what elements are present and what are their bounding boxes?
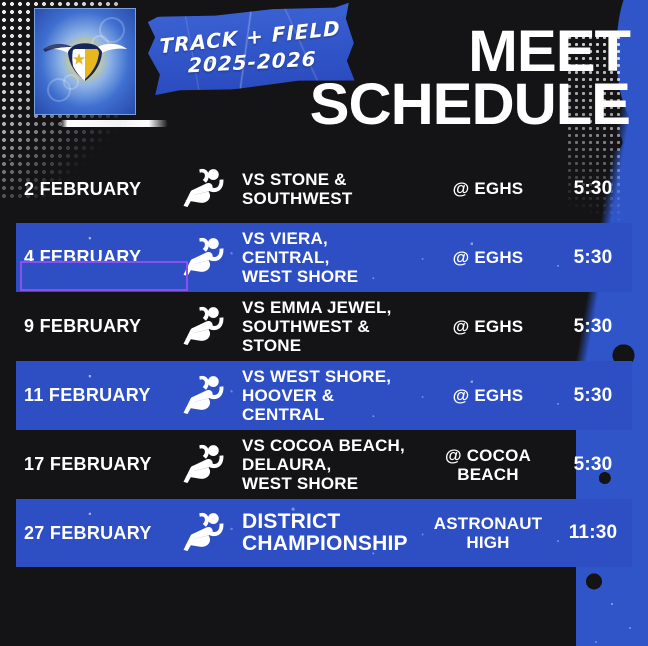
schedule-row-2[interactable]: 4 FEBRUARY VS VIERA, CENTRAL,WEST SHORE … (16, 223, 632, 292)
longhorn-icon (39, 33, 131, 89)
row-opponent-cell: VS VIERA, CENTRAL,WEST SHORE (242, 229, 422, 286)
row-date-cell[interactable]: 27 FEBRUARY (16, 523, 168, 544)
row-opponent-line: HOOVER & CENTRAL (242, 386, 416, 424)
row-date-text: 11 FEBRUARY (24, 385, 151, 405)
schedule-row-1[interactable]: 2 FEBRUARY VS STONE &SOUTHWEST @ EGHS 5:… (16, 155, 632, 223)
row-location-cell: @ EGHS (422, 179, 554, 198)
schedule-row-3[interactable]: 9 FEBRUARY VS EMMA JEWEL,SOUTHWEST & STO… (16, 292, 632, 361)
row-icon-cell (168, 437, 242, 493)
row-location-cell: @ EGHS (422, 248, 554, 267)
row-time-cell: 5:30 (554, 178, 632, 200)
runner-icon (177, 437, 233, 493)
schedule-row-5[interactable]: 17 FEBRUARY VS COCOA BEACH,DELAURA,WEST … (16, 430, 632, 499)
title-line-meet: MEET (197, 26, 630, 77)
row-opponent-line: CHAMPIONSHIP (242, 533, 416, 556)
runner-icon (177, 299, 233, 355)
row-time-cell: 5:30 (554, 247, 632, 269)
schedule-row-6[interactable]: 27 FEBRUARY DISTRICTCHAMPIONSHIP ASTRONA… (16, 499, 632, 567)
row-opponent-line: WEST SHORE (242, 267, 416, 286)
row-time-cell: 5:30 (554, 454, 632, 476)
row-location-cell: @ EGHS (422, 386, 554, 405)
row-opponent-line: VS STONE & (242, 170, 416, 189)
row-date-cell[interactable]: 9 FEBRUARY (16, 316, 168, 337)
row-icon-cell (168, 161, 242, 217)
row-location-cell: @ COCOA BEACH (422, 446, 554, 484)
row-date-cell[interactable]: 17 FEBRUARY (16, 454, 168, 475)
row-opponent-cell: VS COCOA BEACH,DELAURA,WEST SHORE (242, 436, 422, 493)
row-opponent-line: DELAURA, (242, 455, 416, 474)
row-icon-cell (168, 299, 242, 355)
title-line-schedule: SCHEDULE (197, 79, 630, 130)
row-opponent-line: WEST SHORE (242, 474, 416, 493)
row-opponent-line: SOUTHWEST (242, 189, 416, 208)
row-opponent-line: VS EMMA JEWEL, (242, 298, 416, 317)
row-time-cell: 11:30 (554, 522, 632, 544)
meet-schedule-poster: TRACK + FIELD 2025-2026 MEET SCHEDULE 2 … (0, 0, 648, 646)
row-icon-cell (168, 230, 242, 286)
row-opponent-cell: VS WEST SHORE,HOOVER & CENTRAL (242, 367, 422, 424)
poster-header: TRACK + FIELD 2025-2026 MEET SCHEDULE (0, 0, 648, 150)
row-location-cell: ASTRONAUT HIGH (422, 514, 554, 552)
runner-icon (177, 161, 233, 217)
row-date-text: 4 FEBRUARY (24, 247, 141, 267)
row-opponent-cell: DISTRICTCHAMPIONSHIP (242, 511, 422, 556)
schedule-list: 2 FEBRUARY VS STONE &SOUTHWEST @ EGHS 5:… (0, 155, 648, 567)
row-date-text: 9 FEBRUARY (24, 316, 141, 336)
brush-stroke-decoration (60, 120, 168, 127)
row-date-text: 2 FEBRUARY (24, 179, 141, 199)
longhorn-bull-logo (34, 8, 136, 115)
row-opponent-line: VS VIERA, CENTRAL, (242, 229, 416, 267)
row-location-cell: @ EGHS (422, 317, 554, 336)
schedule-row-4[interactable]: 11 FEBRUARY VS WEST SHORE,HOOVER & CENTR… (16, 361, 632, 430)
row-date-text: 17 FEBRUARY (24, 454, 152, 474)
row-date-text: 27 FEBRUARY (24, 523, 152, 543)
runner-icon (177, 230, 233, 286)
row-time-cell: 5:30 (554, 316, 632, 338)
runner-icon (177, 505, 233, 561)
row-date-cell[interactable]: 4 FEBRUARY (16, 247, 168, 268)
row-time-cell: 5:30 (554, 385, 632, 407)
poster-title: MEET SCHEDULE (210, 26, 630, 130)
row-date-cell[interactable]: 11 FEBRUARY (16, 385, 168, 406)
row-date-cell[interactable]: 2 FEBRUARY (16, 179, 168, 200)
row-opponent-line: VS COCOA BEACH, (242, 436, 416, 455)
row-opponent-cell: VS STONE &SOUTHWEST (242, 170, 422, 208)
runner-icon (177, 368, 233, 424)
row-icon-cell (168, 368, 242, 424)
row-opponent-cell: VS EMMA JEWEL,SOUTHWEST & STONE (242, 298, 422, 355)
row-opponent-line: SOUTHWEST & STONE (242, 317, 416, 355)
row-icon-cell (168, 505, 242, 561)
row-opponent-line: VS WEST SHORE, (242, 367, 416, 386)
row-opponent-line: DISTRICT (242, 511, 416, 534)
